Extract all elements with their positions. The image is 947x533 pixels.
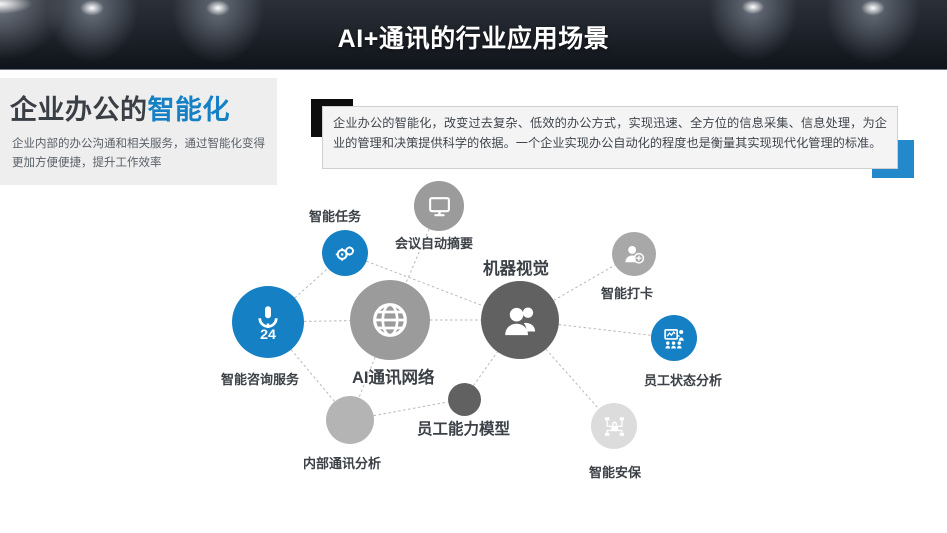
node-label-smart-security: 智能安保 <box>589 462 641 481</box>
node-smart-checkin[interactable] <box>612 232 656 276</box>
diagram-link <box>374 402 448 416</box>
node-label-smart-task: 智能任务 <box>309 206 361 225</box>
network-lock-icon <box>603 415 626 438</box>
diagram-link <box>546 349 599 409</box>
node-label-staff-ability: 员工能力模型 <box>417 417 510 439</box>
node-internal-comm[interactable] <box>326 396 374 444</box>
diagram-link <box>295 268 328 298</box>
description-textbox: 企业办公的智能化，改变过去复杂、低效的办公方式，实现迅速、全方位的信息采集、信息… <box>322 106 898 169</box>
node-label-ai-network: AI通讯网络 <box>352 364 435 388</box>
node-smart-consult[interactable]: 24 <box>232 286 304 358</box>
slide-header: AI+通讯的行业应用场景 <box>0 0 947 70</box>
svg-text:24: 24 <box>260 327 276 340</box>
sidebar-description: 企业内部的办公沟通和相关服务，通过智能化变得更加方便便捷，提升工作效率 <box>12 135 270 173</box>
node-label-smart-consult: 智能咨询服务 <box>221 369 299 388</box>
diagram-link <box>559 325 651 336</box>
header-divider <box>0 69 947 70</box>
microphone-24-icon: 24 <box>250 304 286 340</box>
globe-grid-icon <box>370 300 410 340</box>
description-text: 企业办公的智能化，改变过去复杂、低效的办公方式，实现迅速、全方位的信息采集、信息… <box>333 114 887 154</box>
sidebar-title-plain: 企业办公的 <box>10 95 148 125</box>
node-label-staff-status: 员工状态分析 <box>644 370 722 389</box>
node-staff-status[interactable] <box>651 315 697 361</box>
node-machine-vision[interactable] <box>481 281 559 359</box>
diagram-link <box>304 321 350 322</box>
node-smart-task[interactable] <box>322 230 368 276</box>
diagram-link <box>474 352 498 386</box>
diagram-links <box>0 180 947 500</box>
network-diagram: 24智能咨询服务智能任务会议自动摘要AI通讯网络机器视觉智能打卡员工状态分析智能… <box>0 180 947 500</box>
monitor-icon <box>427 194 452 219</box>
people-icon <box>501 301 540 340</box>
gears-icon <box>334 242 357 265</box>
node-meeting-digest[interactable] <box>414 181 464 231</box>
node-ai-network[interactable] <box>350 280 430 360</box>
presentation-icon <box>663 327 686 350</box>
node-label-smart-checkin: 智能打卡 <box>601 283 653 302</box>
node-smart-security[interactable] <box>591 403 637 449</box>
sidebar-title-accent: 智能化 <box>148 95 231 125</box>
sidebar-title: 企业办公的智能化 <box>10 88 230 127</box>
page-title: AI+通讯的行业应用场景 <box>0 19 947 55</box>
node-staff-ability[interactable] <box>448 383 481 416</box>
node-label-internal-comm: 内部通讯分析 <box>303 453 381 472</box>
user-add-icon <box>623 243 645 265</box>
node-label-meeting-digest: 会议自动摘要 <box>395 233 473 252</box>
node-label-machine-vision: 机器视觉 <box>483 255 549 279</box>
slide-root: AI+通讯的行业应用场景 企业办公的智能化 企业内部的办公沟通和相关服务，通过智… <box>0 0 947 533</box>
